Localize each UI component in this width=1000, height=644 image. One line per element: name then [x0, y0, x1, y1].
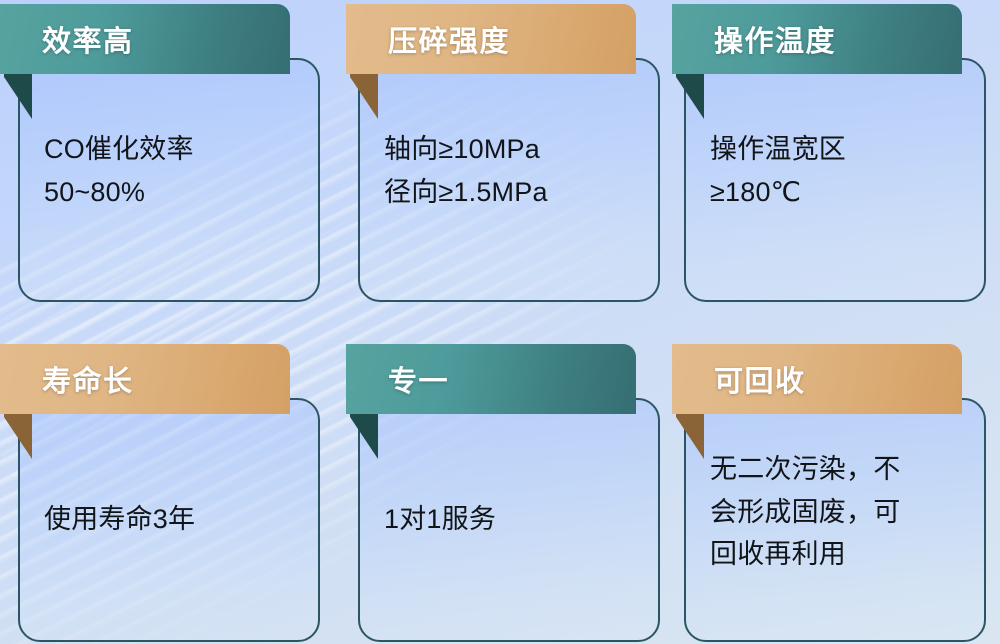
banner-fold-icon — [4, 73, 44, 119]
banner-fold-icon — [350, 413, 390, 459]
card-banner-long-life[interactable]: 寿命长 — [0, 344, 290, 414]
card-banner-efficiency[interactable]: 效率高 — [0, 4, 290, 74]
banner-fold-icon — [4, 413, 44, 459]
card-body-efficiency: CO催化效率 50~80% — [18, 128, 320, 213]
banner-fold-icon — [676, 73, 716, 119]
card-banner-dedicated-service[interactable]: 专一 — [346, 344, 636, 414]
banner-fold-icon — [350, 73, 390, 119]
card-banner-operating-temperature[interactable]: 操作温度 — [672, 4, 962, 74]
feature-grid-infographic: 效率高 CO催化效率 50~80% 压碎强度 轴向≥10MPa 径向≥1.5MP… — [0, 0, 1000, 644]
card-banner-label: 可回收 — [714, 358, 806, 400]
card-banner-crush-strength[interactable]: 压碎强度 — [346, 4, 636, 74]
card-banner-label: 效率高 — [42, 18, 134, 60]
card-banner-label: 寿命长 — [42, 358, 134, 400]
card-banner-label: 专一 — [388, 358, 449, 400]
card-banner-label: 操作温度 — [714, 18, 836, 60]
card-body-operating-temperature: 操作温宽区 ≥180℃ — [684, 128, 986, 213]
card-banner-label: 压碎强度 — [388, 18, 510, 60]
card-banner-recyclable[interactable]: 可回收 — [672, 344, 962, 414]
card-body-crush-strength: 轴向≥10MPa 径向≥1.5MPa — [358, 128, 660, 213]
card-body-recyclable: 无二次污染，不 会形成固废，可 回收再利用 — [684, 448, 986, 576]
card-body-dedicated-service: 1对1服务 — [358, 498, 660, 541]
card-body-long-life: 使用寿命3年 — [18, 498, 320, 541]
banner-fold-icon — [676, 413, 716, 459]
